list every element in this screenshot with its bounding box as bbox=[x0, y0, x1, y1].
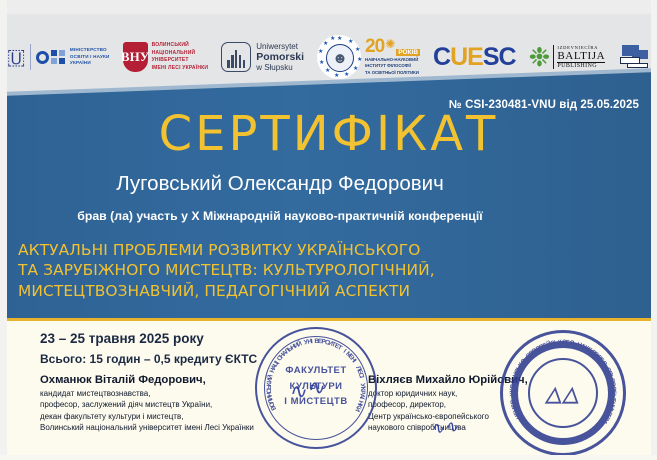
ministry-logo: 🇺 МІНІСТЕРСТВО ОСВІТИ І НАУКИ УКРАЇНИ bbox=[7, 31, 110, 83]
pomorska-line-3: w Słupsku bbox=[256, 63, 304, 72]
vnu-logo: ВНУ ВОЛИНСЬКИЙ НАЦІОНАЛЬНИЙ УНІВЕРСИТЕТ … bbox=[123, 31, 209, 83]
philosophy-institute-text: 20 ✺ РОКІВ НАВЧАЛЬНО-НАУКОВИЙ ІНСТИТУТ Ф… bbox=[365, 38, 420, 76]
baltija-line-2: BALTIJA bbox=[557, 50, 605, 62]
conference-title: АКТУАЛЬНІ ПРОБЛЕМИ РОЗВИТКУ УКРАЇНСЬКОГО… bbox=[18, 240, 548, 301]
pomorska-line-1: Uniwersytet bbox=[256, 42, 304, 51]
baltija-line-3: PUBLISHING bbox=[557, 62, 605, 69]
page-edge-bottom bbox=[0, 455, 657, 460]
csi-emblem-icon: ▵▵ bbox=[544, 376, 583, 410]
cuesc-part-1: C bbox=[433, 45, 450, 70]
recipient-name: Луговський Олександр Федорович bbox=[0, 172, 560, 196]
logo-strip: 🇺 МІНІСТЕРСТВО ОСВІТИ І НАУКИ УКРАЇНИ ВН… bbox=[0, 28, 657, 86]
vnu-shield-icon: ВНУ bbox=[123, 42, 148, 72]
conference-title-line-3: МИСТЕЦТВОЗНАВЧИЙ, ПЕДАГОГІЧНИЙ АСПЕКТИ bbox=[18, 281, 548, 301]
page-edge-top bbox=[0, 0, 657, 14]
pomorska-line-2: Pomorski bbox=[256, 51, 304, 63]
ministry-logo-text: МІНІСТЕРСТВО ОСВІТИ І НАУКИ УКРАЇНИ bbox=[70, 47, 110, 67]
certificate-page: 🇺 МІНІСТЕРСТВО ОСВІТИ І НАУКИ УКРАЇНИ ВН… bbox=[0, 0, 657, 460]
baltija-logo-text: IZDEVNIECĪBA BALTIJA PUBLISHING bbox=[553, 45, 605, 69]
participation-line: брав (ла) участь у X Міжнародній науково… bbox=[0, 209, 560, 223]
pomorska-logo: Uniwersytet Pomorski w Słupsku bbox=[221, 31, 304, 83]
conference-title-line-2: ТА ЗАРУБІЖНОГО МИСТЕЦТВ: КУЛЬТУРОЛОГІЧНИ… bbox=[18, 260, 548, 280]
vnu-line-4: ІМЕНІ ЛЕСІ УКРАЇНКИ bbox=[152, 65, 209, 73]
ministry-line-3: УКРАЇНИ bbox=[70, 60, 110, 67]
institute-line-3: ТА ОСВІТНЬОЇ ПОЛІТИКИ bbox=[365, 70, 419, 76]
divider bbox=[30, 44, 31, 70]
conference-title-line-1: АКТУАЛЬНІ ПРОБЛЕМИ РОЗВИТКУ УКРАЇНСЬКОГО bbox=[18, 240, 548, 260]
credit-hours: Всього: 15 годин – 0,5 кредиту ЄКТС bbox=[40, 352, 257, 366]
vnu-line-2: НАЦІОНАЛЬНИЙ bbox=[152, 50, 209, 58]
cuesc-logo: CUESC bbox=[433, 31, 516, 83]
cuesc-part-2: UE bbox=[450, 45, 483, 70]
palm-leaf-icon: ❉ bbox=[529, 44, 551, 70]
tryzub-icon: 🇺 bbox=[7, 47, 26, 68]
om-mark-icon bbox=[36, 50, 65, 64]
page-edge-right bbox=[651, 0, 657, 460]
event-dates: 23 – 25 травня 2025 року bbox=[40, 331, 204, 346]
university-building-icon bbox=[221, 42, 251, 72]
page-edge-left bbox=[0, 0, 7, 460]
years-label: РОКІВ bbox=[396, 49, 420, 56]
csi-stamp: ЦЕНТР УКРАЇНСЬКО-ЄВРОПЕЙСЬКОГО НАУКОВОГО… bbox=[500, 330, 626, 456]
baltija-publishing-logo: ❉ IZDEVNIECĪBA BALTIJA PUBLISHING bbox=[529, 31, 606, 83]
page-title: СЕРТИФІКАТ bbox=[0, 110, 657, 158]
vnu-line-1: ВОЛИНСЬКИЙ bbox=[152, 42, 209, 50]
sun-icon: ✺ bbox=[385, 38, 395, 50]
vnu-line-3: УНІВЕРСИТЕТ bbox=[152, 57, 209, 65]
signature-right: ∿∿ bbox=[429, 417, 459, 440]
philosophy-institute-logo: ☻ ★ ★ ★ ★ ★ ★ ★ ★ ★ ★ ★ ★ 20 ✺ РОКІВ bbox=[317, 31, 420, 83]
cuesc-part-3: SC bbox=[483, 45, 516, 70]
vnu-logo-text: ВОЛИНСЬКИЙ НАЦІОНАЛЬНИЙ УНІВЕРСИТЕТ ІМЕН… bbox=[152, 42, 209, 72]
years-number: 20 bbox=[365, 38, 384, 56]
ministry-line-1: МІНІСТЕРСТВО bbox=[70, 47, 110, 54]
eu-stars-emblem-icon: ☻ ★ ★ ★ ★ ★ ★ ★ ★ ★ ★ ★ ★ bbox=[317, 35, 361, 79]
books-icon bbox=[618, 43, 650, 71]
pomorska-logo-text: Uniwersytet Pomorski w Słupsku bbox=[256, 42, 304, 72]
